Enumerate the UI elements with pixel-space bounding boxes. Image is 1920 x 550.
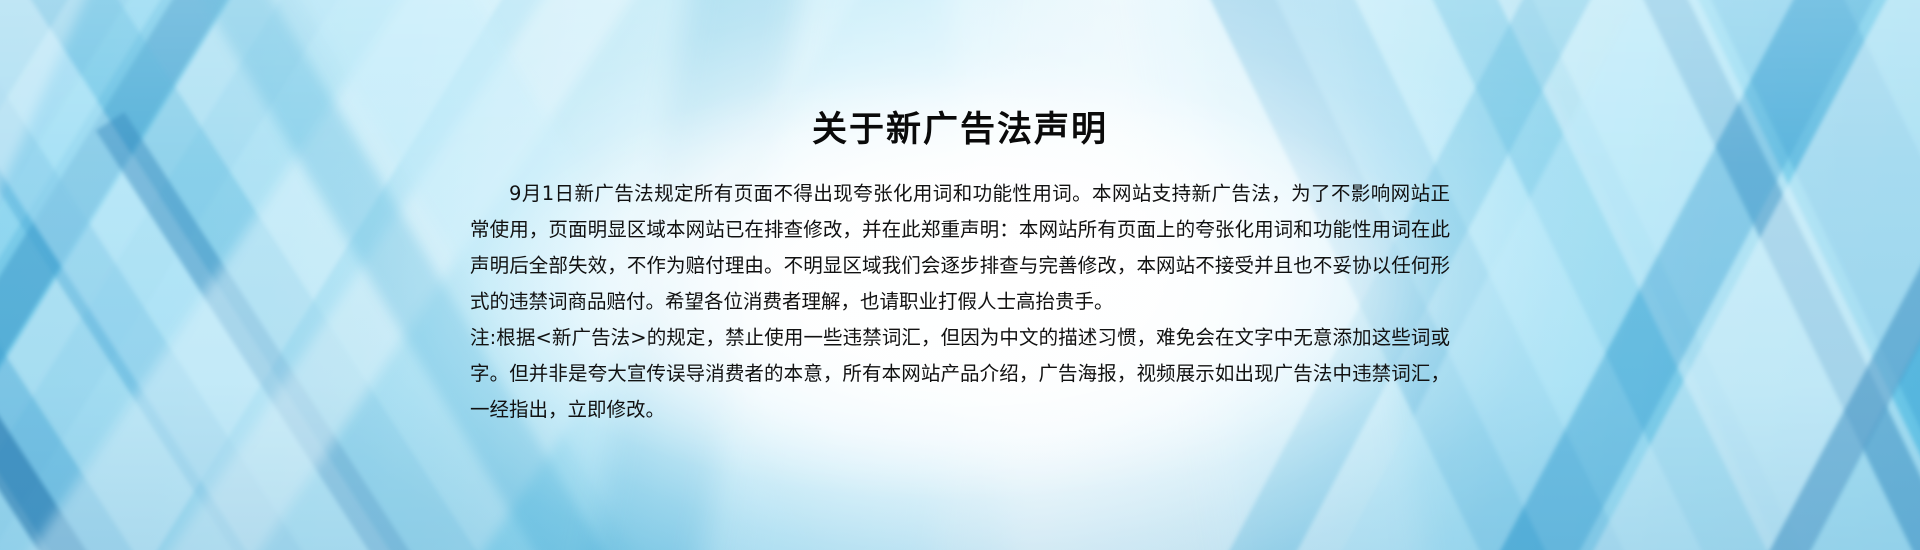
statement-paragraph-1: 9月1日新广告法规定所有页面不得出现夸张化用词和功能性用词。本网站支持新广告法，… <box>470 176 1450 320</box>
statement-paragraph-2: 注:根据<新广告法>的规定，禁止使用一些违禁词汇，但因为中文的描述习惯，难免会在… <box>470 320 1450 428</box>
statement-body: 9月1日新广告法规定所有页面不得出现夸张化用词和功能性用词。本网站支持新广告法，… <box>470 176 1450 428</box>
page-title: 关于新广告法声明 <box>470 109 1450 151</box>
advertising-law-statement-banner: 关于新广告法声明 9月1日新广告法规定所有页面不得出现夸张化用词和功能性用词。本… <box>0 0 1920 550</box>
statement-content: 关于新广告法声明 9月1日新广告法规定所有页面不得出现夸张化用词和功能性用词。本… <box>470 0 1450 550</box>
